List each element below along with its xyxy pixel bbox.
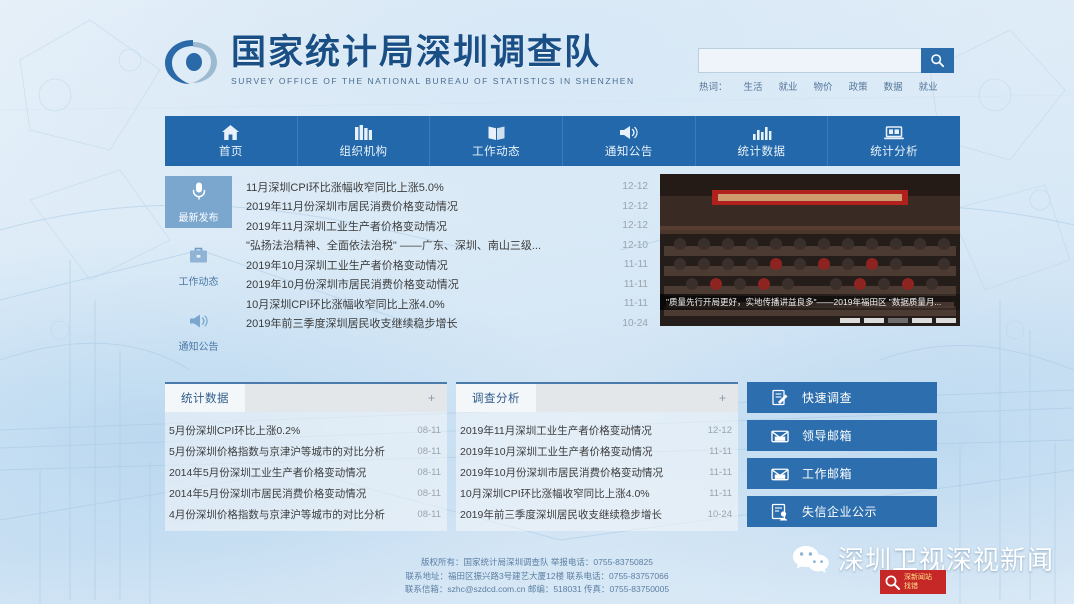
list-item[interactable]: 2019年11月深圳工业生产者价格变动情况 12-12 xyxy=(246,216,648,236)
mailbox-icon xyxy=(771,428,789,444)
badge-line-2: 找错 xyxy=(904,582,932,591)
panel-item-title: 2014年5月份深圳市居民消费价格变动情况 xyxy=(169,486,374,501)
news-tab-label: 通知公告 xyxy=(179,338,219,353)
list-item[interactable]: 11月深圳CPI环比涨幅收窄同比上涨5.0% 12-12 xyxy=(246,177,648,197)
magnifier-icon xyxy=(884,574,901,591)
book-icon xyxy=(487,124,506,141)
action-label: 领导邮箱 xyxy=(802,427,852,444)
news-date: 12-12 xyxy=(622,220,648,231)
hot-keyword-2[interactable]: 物价 xyxy=(814,79,833,93)
hot-keyword-1[interactable]: 就业 xyxy=(779,79,798,93)
photo-carousel[interactable]: "质量先行开局更好，实地传播讲益良多"——2019年福田区 "数据质量月... xyxy=(660,174,960,326)
news-title: 2019年11月份深圳市居民消费价格变动情况 xyxy=(246,198,470,214)
action-label: 工作邮箱 xyxy=(802,465,852,482)
hot-keywords-label: 热词： xyxy=(699,79,728,93)
panel-list: 2019年11月深圳工业生产者价格变动情况 12-12 2019年10月深圳工业… xyxy=(456,412,738,531)
news-block: 最新发布 工作动态 通知公告 11月深圳CPI环比涨幅收窄同比 xyxy=(165,174,960,371)
panel-more-link[interactable]: + xyxy=(536,384,738,412)
news-title: "弘扬法治精神、全面依法治税" ——广东、深圳、南山三级... xyxy=(246,237,553,253)
list-item[interactable]: 2019年前三季度深圳居民收支继续稳步增长 10-24 xyxy=(246,314,648,334)
list-item[interactable]: 10月深圳CPI环比涨幅收窄同比上涨4.0% 11-11 xyxy=(246,294,648,314)
panel-survey-analysis: 调查分析 + 2019年11月深圳工业生产者价格变动情况 12-12 2019年… xyxy=(456,382,738,531)
site-logo-block[interactable]: 国家统计局深圳调查队 SURVEY OFFICE OF THE NATIONAL… xyxy=(163,33,635,88)
list-item[interactable]: 5月份深圳价格指数与京津沪等城市的对比分析 08-11 xyxy=(169,441,441,462)
news-date: 12-12 xyxy=(622,201,648,212)
search-box xyxy=(698,48,954,73)
news-tab-label: 工作动态 xyxy=(179,273,219,288)
panel-item-title: 2019年前三季度深圳居民收支继续稳步增长 xyxy=(460,507,670,522)
panel-header: 调查分析 + xyxy=(456,382,738,412)
watermark-text: 深圳卫视深视新闻 xyxy=(838,540,1054,577)
list-item[interactable]: 2019年10月份深圳市居民消费价格变动情况 11-11 xyxy=(246,275,648,295)
news-tab-work-updates[interactable]: 工作动态 xyxy=(165,241,232,293)
nav-item-label: 统计数据 xyxy=(738,143,786,159)
page-root: 国家统计局深圳调查队 SURVEY OFFICE OF THE NATIONAL… xyxy=(0,0,1074,604)
news-title: 2019年10月份深圳市居民消费价格变动情况 xyxy=(246,276,471,292)
megaphone-icon xyxy=(188,312,210,335)
news-date: 12-10 xyxy=(622,240,648,251)
nav-item-statistics-analysis[interactable]: 统计分析 xyxy=(828,116,960,166)
megaphone-icon xyxy=(618,124,639,141)
panel-item-title: 5月份深圳CPI环比上涨0.2% xyxy=(169,423,308,438)
microphone-icon xyxy=(190,181,208,206)
panel-item-title: 2014年5月份深圳工业生产者价格变动情况 xyxy=(169,465,374,480)
carousel-indicators xyxy=(840,318,956,323)
nav-item-statistics-data[interactable]: 统计数据 xyxy=(696,116,829,166)
leader-mailbox-button[interactable]: 领导邮箱 xyxy=(747,420,937,451)
page-title: 国家统计局深圳调查队 xyxy=(231,33,635,73)
carousel-dot[interactable] xyxy=(936,318,956,323)
main-navigation: 首页 组织机构 工作动态 通知公告 xyxy=(165,116,960,166)
news-tab-announcements[interactable]: 通知公告 xyxy=(165,306,232,358)
bar-chart-icon xyxy=(752,124,772,141)
mailbox-icon xyxy=(771,466,789,482)
nav-item-home[interactable]: 首页 xyxy=(165,116,298,166)
main-content: 首页 组织机构 工作动态 通知公告 xyxy=(165,116,960,531)
panel-tab[interactable]: 调查分析 xyxy=(456,384,536,412)
search-input[interactable] xyxy=(698,48,921,73)
badge-line-1: 深新闻站 xyxy=(904,573,932,582)
list-item[interactable]: 2014年5月份深圳工业生产者价格变动情况 08-11 xyxy=(169,462,441,483)
site-header: 国家统计局深圳调查队 SURVEY OFFICE OF THE NATIONAL… xyxy=(0,0,1074,110)
news-date: 10-24 xyxy=(622,318,648,329)
list-item[interactable]: 5月份深圳CPI环比上涨0.2% 08-11 xyxy=(169,420,441,441)
news-title: 2019年前三季度深圳居民收支继续稳步增长 xyxy=(246,315,469,331)
list-item[interactable]: 4月份深圳价格指数与京津沪等城市的对比分析 08-11 xyxy=(169,504,441,525)
action-label: 失信企业公示 xyxy=(802,503,877,520)
list-item[interactable]: 2019年10月深圳工业生产者价格变动情况 11-11 xyxy=(246,255,648,275)
panel-item-date: 08-11 xyxy=(417,488,441,499)
carousel-dot[interactable] xyxy=(864,318,884,323)
wechat-icon xyxy=(792,543,830,575)
news-date: 12-12 xyxy=(622,181,648,192)
panel-item-date: 08-11 xyxy=(417,509,441,520)
panel-item-date: 11-11 xyxy=(709,488,732,499)
panel-item-title: 2019年11月深圳工业生产者价格变动情况 xyxy=(460,423,660,438)
news-title: 2019年10月深圳工业生产者价格变动情况 xyxy=(246,257,460,273)
panel-item-title: 10月深圳CPI环比涨幅收窄同比上涨4.0% xyxy=(460,486,658,501)
hot-keywords: 热词： 生活 就业 物价 政策 数据 就业 xyxy=(699,79,955,93)
panel-tab[interactable]: 统计数据 xyxy=(165,384,245,412)
building-icon xyxy=(354,124,373,141)
nav-item-label: 工作动态 xyxy=(472,143,520,159)
panel-item-date: 10-24 xyxy=(708,509,732,520)
list-item[interactable]: 2019年11月深圳工业生产者价格变动情况 12-12 xyxy=(460,420,732,441)
action-label: 快速调查 xyxy=(802,389,852,406)
panel-item-date: 08-11 xyxy=(417,467,441,478)
list-item[interactable]: 2019年10月深圳工业生产者价格变动情况 11-11 xyxy=(460,441,732,462)
swoosh-logo-icon xyxy=(163,36,221,88)
news-title: 2019年11月深圳工业生产者价格变动情况 xyxy=(246,218,459,234)
list-item[interactable]: 2019年前三季度深圳居民收支继续稳步增长 10-24 xyxy=(460,504,732,525)
list-item[interactable]: 2019年11月份深圳市居民消费价格变动情况 12-12 xyxy=(246,197,648,217)
carousel-dot[interactable] xyxy=(840,318,860,323)
panel-item-title: 5月份深圳价格指数与京津沪等城市的对比分析 xyxy=(169,444,393,459)
report-error-badge[interactable]: 深新闻站 找错 xyxy=(880,570,946,594)
list-item[interactable]: 2019年10月份深圳市居民消费价格变动情况 11-11 xyxy=(460,462,732,483)
panel-item-title: 2019年10月深圳工业生产者价格变动情况 xyxy=(460,444,661,459)
panel-item-date: 11-11 xyxy=(709,467,732,478)
quick-survey-button[interactable]: 快速调查 xyxy=(747,382,937,413)
quick-action-buttons: 快速调查 领导邮箱 工作邮箱 xyxy=(747,382,937,527)
search-button[interactable] xyxy=(921,48,954,73)
news-date: 11-11 xyxy=(624,279,648,290)
bottom-panels: 统计数据 + 5月份深圳CPI环比上涨0.2% 08-11 5月份深圳价格指数与… xyxy=(165,382,960,531)
nav-item-announcements[interactable]: 通知公告 xyxy=(563,116,696,166)
news-date: 11-11 xyxy=(624,298,648,309)
news-list: 11月深圳CPI环比涨幅收窄同比上涨5.0% 12-12 2019年11月份深圳… xyxy=(232,174,660,371)
nav-item-work-updates[interactable]: 工作动态 xyxy=(430,116,563,166)
person-document-icon xyxy=(771,503,789,521)
news-date: 11-11 xyxy=(624,259,648,270)
panel-item-title: 2019年10月份深圳市居民消费价格变动情况 xyxy=(460,465,671,480)
news-tab-label: 最新发布 xyxy=(179,209,219,224)
brand-subtitle-en: SURVEY OFFICE OF THE NATIONAL BUREAU OF … xyxy=(231,76,635,86)
nav-item-label: 组织机构 xyxy=(340,143,388,159)
nav-item-label: 首页 xyxy=(219,143,243,159)
nav-item-label: 通知公告 xyxy=(605,143,653,159)
hot-keyword-0[interactable]: 生活 xyxy=(744,79,763,93)
home-icon xyxy=(221,124,240,141)
list-item[interactable]: 2014年5月份深圳市居民消费价格变动情况 08-11 xyxy=(169,483,441,504)
panel-list: 5月份深圳CPI环比上涨0.2% 08-11 5月份深圳价格指数与京津沪等城市的… xyxy=(165,412,447,531)
hot-keyword-5[interactable]: 就业 xyxy=(919,79,938,93)
nav-item-organization[interactable]: 组织机构 xyxy=(298,116,431,166)
panel-item-date: 11-11 xyxy=(709,446,732,457)
panel-item-title: 4月份深圳价格指数与京津沪等城市的对比分析 xyxy=(169,507,393,522)
news-tab-latest[interactable]: 最新发布 xyxy=(165,176,232,228)
nav-item-label: 统计分析 xyxy=(870,143,918,159)
carousel-dot[interactable] xyxy=(912,318,932,323)
laptop-icon xyxy=(883,124,905,141)
briefcase-icon xyxy=(188,246,209,270)
panel-item-date: 12-12 xyxy=(708,425,732,436)
panel-item-date: 08-11 xyxy=(417,425,441,436)
hot-keyword-3[interactable]: 政策 xyxy=(849,79,868,93)
panel-item-date: 08-11 xyxy=(417,446,441,457)
panel-more-link[interactable]: + xyxy=(245,384,447,412)
list-item[interactable]: 10月深圳CPI环比涨幅收窄同比上涨4.0% 11-11 xyxy=(460,483,732,504)
list-item[interactable]: "弘扬法治精神、全面依法治税" ——广东、深圳、南山三级... 12-10 xyxy=(246,236,648,256)
news-title: 11月深圳CPI环比涨幅收窄同比上涨5.0% xyxy=(246,179,456,195)
carousel-caption: "质量先行开局更好，实地传播讲益良多"——2019年福田区 "数据质量月... xyxy=(660,294,960,310)
search-icon xyxy=(930,53,945,68)
carousel-dot-active[interactable] xyxy=(888,318,908,323)
dishonest-enterprise-button[interactable]: 失信企业公示 xyxy=(747,496,937,527)
panel-header: 统计数据 + xyxy=(165,382,447,412)
survey-pen-icon xyxy=(771,389,789,407)
news-title: 10月深圳CPI环比涨幅收窄同比上涨4.0% xyxy=(246,296,457,312)
news-category-tabs: 最新发布 工作动态 通知公告 xyxy=(165,174,232,371)
hot-keyword-4[interactable]: 数据 xyxy=(884,79,903,93)
panel-statistics-data: 统计数据 + 5月份深圳CPI环比上涨0.2% 08-11 5月份深圳价格指数与… xyxy=(165,382,447,531)
work-mailbox-button[interactable]: 工作邮箱 xyxy=(747,458,937,489)
